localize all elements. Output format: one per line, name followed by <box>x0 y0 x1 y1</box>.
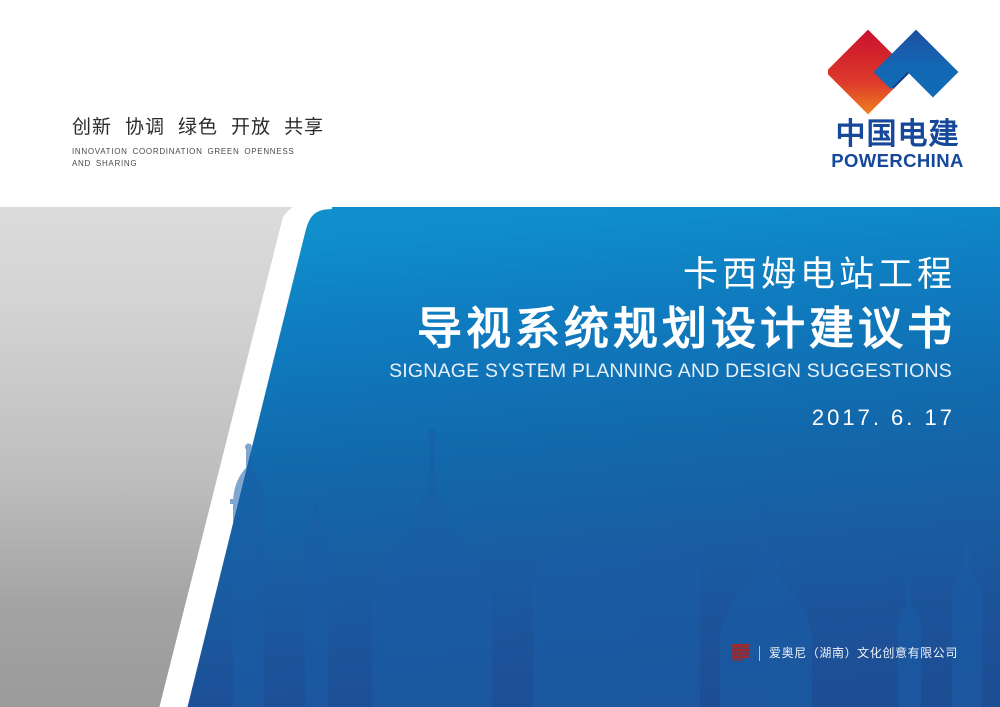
page-title-cn-secondary: 导视系统规划设计建议书 <box>389 303 956 355</box>
slogan-word-4: 共享 <box>284 117 324 138</box>
corporate-slogan: 创新协调绿色开放共享 INNOVATION COORDINATION GREEN… <box>72 118 324 171</box>
slogan-word-2: 绿色 <box>178 117 218 138</box>
slogan-word-1: 协调 <box>125 117 165 138</box>
title-block: 卡西姆电站工程 导视系统规划设计建议书 SIGNAGE SYSTEM PLANN… <box>389 255 952 431</box>
header-band: 创新协调绿色开放共享 INNOVATION COORDINATION GREEN… <box>0 0 1000 207</box>
slogan-word-0: 创新 <box>72 117 112 138</box>
logo-text-en: POWERCHINA <box>815 152 980 171</box>
logo-text-cn: 中国电建 <box>815 120 980 150</box>
slogan-english-line2: AND SHARING <box>72 158 304 170</box>
powerchina-diamond-icon <box>828 28 968 116</box>
slogan-word-3: 开放 <box>231 117 271 138</box>
page-title-en: SIGNAGE SYSTEM PLANNING AND DESIGN SUGGE… <box>389 360 952 383</box>
cover-stage: 卡西姆电站工程 导视系统规划设计建议书 SIGNAGE SYSTEM PLANN… <box>0 207 1000 707</box>
slogan-chinese: 创新协调绿色开放共享 <box>72 118 324 139</box>
page-title-cn-primary: 卡西姆电站工程 <box>389 255 956 295</box>
credit-line: 爱奥尼（湖南）文化创意有限公司 <box>731 643 958 663</box>
slogan-english: INNOVATION COORDINATION GREEN OPENNESS A… <box>72 146 304 171</box>
credit-company-name: 爱奥尼（湖南）文化创意有限公司 <box>769 647 958 659</box>
slogan-english-line1: INNOVATION COORDINATION GREEN OPENNESS <box>72 146 304 158</box>
cover-slide: 卡西姆电站工程 导视系统规划设计建议书 SIGNAGE SYSTEM PLANN… <box>0 0 1000 707</box>
powerchina-logo: 中国电建 POWERCHINA <box>815 28 980 171</box>
presentation-date: 2017. 6. 17 <box>389 405 955 431</box>
credit-divider <box>759 646 760 661</box>
ioni-logo-icon <box>731 643 750 663</box>
